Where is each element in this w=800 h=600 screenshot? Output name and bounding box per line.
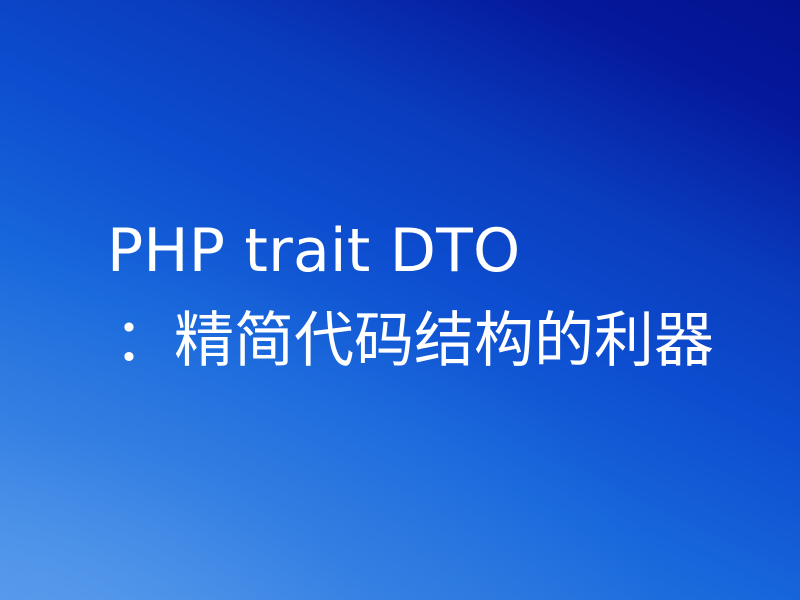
headline-line-primary: PHP trait DTO bbox=[100, 206, 760, 296]
headline-block: PHP trait DTO ：精简代码结构的利器 bbox=[100, 206, 760, 386]
headline-line-secondary: ：精简代码结构的利器 bbox=[100, 296, 760, 386]
banner-canvas: PHP trait DTO ：精简代码结构的利器 bbox=[0, 0, 800, 600]
